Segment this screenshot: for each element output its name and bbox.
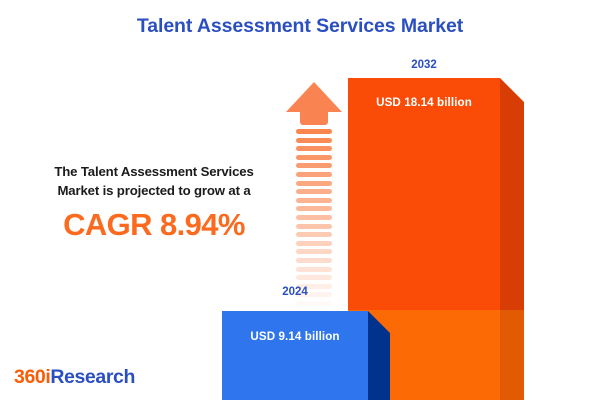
arrow-stripe [296, 232, 332, 237]
brand-logo-360i: 360i [14, 366, 50, 388]
arrow-stripe [296, 215, 332, 220]
arrow-stripe [296, 206, 332, 211]
arrow-stripe [296, 172, 332, 177]
annotation-line-2: Market is projected to grow at a [18, 181, 290, 200]
bar-2024-side-face [368, 311, 390, 400]
page-title: Talent Assessment Services Market [0, 15, 600, 38]
arrow-stripe [296, 189, 332, 194]
brand-logo: 360iResearch [14, 366, 135, 389]
arrow-stripe [296, 241, 332, 246]
brand-logo-research: Research [50, 366, 135, 388]
arrow-stripe [296, 224, 332, 229]
bar-year-label-2032: 2032 [348, 59, 500, 71]
arrow-stripe [296, 155, 332, 160]
arrow-stripe [296, 146, 332, 151]
arrow-stripe [296, 275, 332, 280]
bar-year-label-2024: 2024 [222, 286, 368, 298]
arrow-stripe [296, 258, 332, 263]
arrow-stripe [296, 198, 332, 203]
arrow-stripe [296, 181, 332, 186]
arrow-stripes [296, 129, 332, 290]
bar-2024-value-label: USD 9.14 billion [222, 330, 368, 343]
arrow-head-shape [286, 82, 342, 112]
arrow-stripe [296, 163, 332, 168]
arrow-stripe [296, 301, 332, 306]
arrow-stripe [296, 249, 332, 254]
arrow-stripe [296, 138, 332, 143]
arrow-stripe [296, 129, 332, 134]
bar-2032-value-label: USD 18.14 billion [348, 96, 500, 109]
infographic-canvas: Talent Assessment Services Market The Ta… [0, 0, 600, 400]
arrow-stripe [296, 267, 332, 272]
growth-arrow-icon [286, 82, 342, 290]
annotation-line-1: The Talent Assessment Services [18, 162, 290, 181]
cagr-value: CAGR 8.94% [18, 207, 290, 243]
bar-2024-front-face [222, 311, 368, 400]
bar-2032-side-face-lower [500, 310, 524, 400]
bar-2024: USD 9.14 billion [222, 311, 390, 400]
arrow-neck-shape [300, 112, 328, 125]
annotation-block: The Talent Assessment Services Market is… [18, 162, 290, 243]
